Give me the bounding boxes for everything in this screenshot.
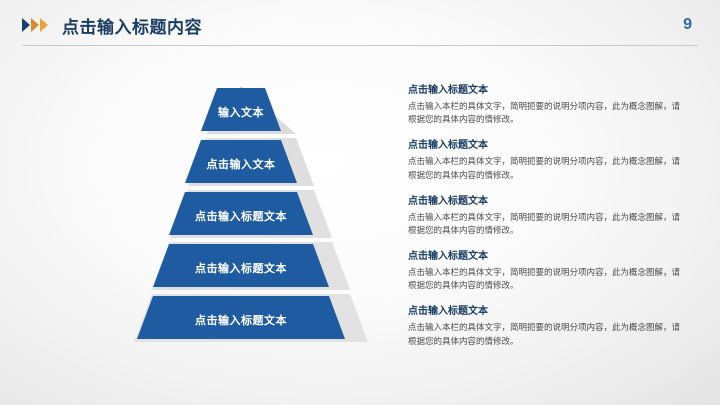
pyramid-level-5-label: 点击输入标题文本 [96,312,386,328]
list-item[interactable]: 点击输入标题文本 点击输入本栏的具体文字，简明扼要的说明分项内容，此为概念图解，… [408,195,698,237]
pyramid-level-2-label: 点击输入文本 [96,156,386,172]
chevron-right-icon [40,18,48,32]
slide-header: 点击输入标题内容 9 [0,0,720,52]
list-item-title: 点击输入标题文本 [408,305,698,318]
list-item-body: 点击输入本栏的具体文字，简明扼要的说明分项内容，此为概念图解，请根据您的具体内容… [408,266,683,292]
list-item-title: 点击输入标题文本 [408,139,698,152]
chevron-right-icon [31,18,39,32]
list-item-title: 点击输入标题文本 [408,84,698,97]
page-title: 点击输入标题内容 [62,13,202,38]
pyramid-level-1-label: 输入文本 [96,104,386,120]
list-item[interactable]: 点击输入标题文本 点击输入本栏的具体文字，简明扼要的说明分项内容，此为概念图解，… [408,84,698,126]
pyramid-level-5[interactable]: 点击输入标题文本 [96,294,386,342]
list-item[interactable]: 点击输入标题文本 点击输入本栏的具体文字，简明扼要的说明分项内容，此为概念图解，… [408,305,698,347]
list-item[interactable]: 点击输入标题文本 点击输入本栏的具体文字，简明扼要的说明分项内容，此为概念图解，… [408,139,698,181]
pyramid-level-4[interactable]: 点击输入标题文本 [96,242,386,290]
list-item-title: 点击输入标题文本 [408,250,698,263]
list-item-body: 点击输入本栏的具体文字，简明扼要的说明分项内容，此为概念图解，请根据您的具体内容… [408,100,683,126]
description-list: 点击输入标题文本 点击输入本栏的具体文字，简明扼要的说明分项内容，此为概念图解，… [408,84,698,361]
list-item-title: 点击输入标题文本 [408,195,698,208]
header-divider [22,45,698,46]
slide: 点击输入标题内容 9 输入文本 点击输入文本 [0,0,720,405]
list-item-body: 点击输入本栏的具体文字，简明扼要的说明分项内容，此为概念图解，请根据您的具体内容… [408,321,683,347]
pyramid-level-3[interactable]: 点击输入标题文本 [96,190,386,238]
pyramid-level-4-label: 点击输入标题文本 [96,260,386,276]
chevron-right-icon [22,18,30,32]
pyramid-level-1[interactable]: 输入文本 [96,86,386,134]
pyramid-level-2[interactable]: 点击输入文本 [96,138,386,186]
pyramid-diagram: 输入文本 点击输入文本 点击输入标题文本 [96,86,386,371]
list-item-body: 点击输入本栏的具体文字，简明扼要的说明分项内容，此为概念图解，请根据您的具体内容… [408,211,683,237]
page-number: 9 [683,16,692,34]
list-item-body: 点击输入本栏的具体文字，简明扼要的说明分项内容，此为概念图解，请根据您的具体内容… [408,155,683,181]
chevron-logo [22,18,48,32]
list-item[interactable]: 点击输入标题文本 点击输入本栏的具体文字，简明扼要的说明分项内容，此为概念图解，… [408,250,698,292]
pyramid-level-3-label: 点击输入标题文本 [96,208,386,224]
